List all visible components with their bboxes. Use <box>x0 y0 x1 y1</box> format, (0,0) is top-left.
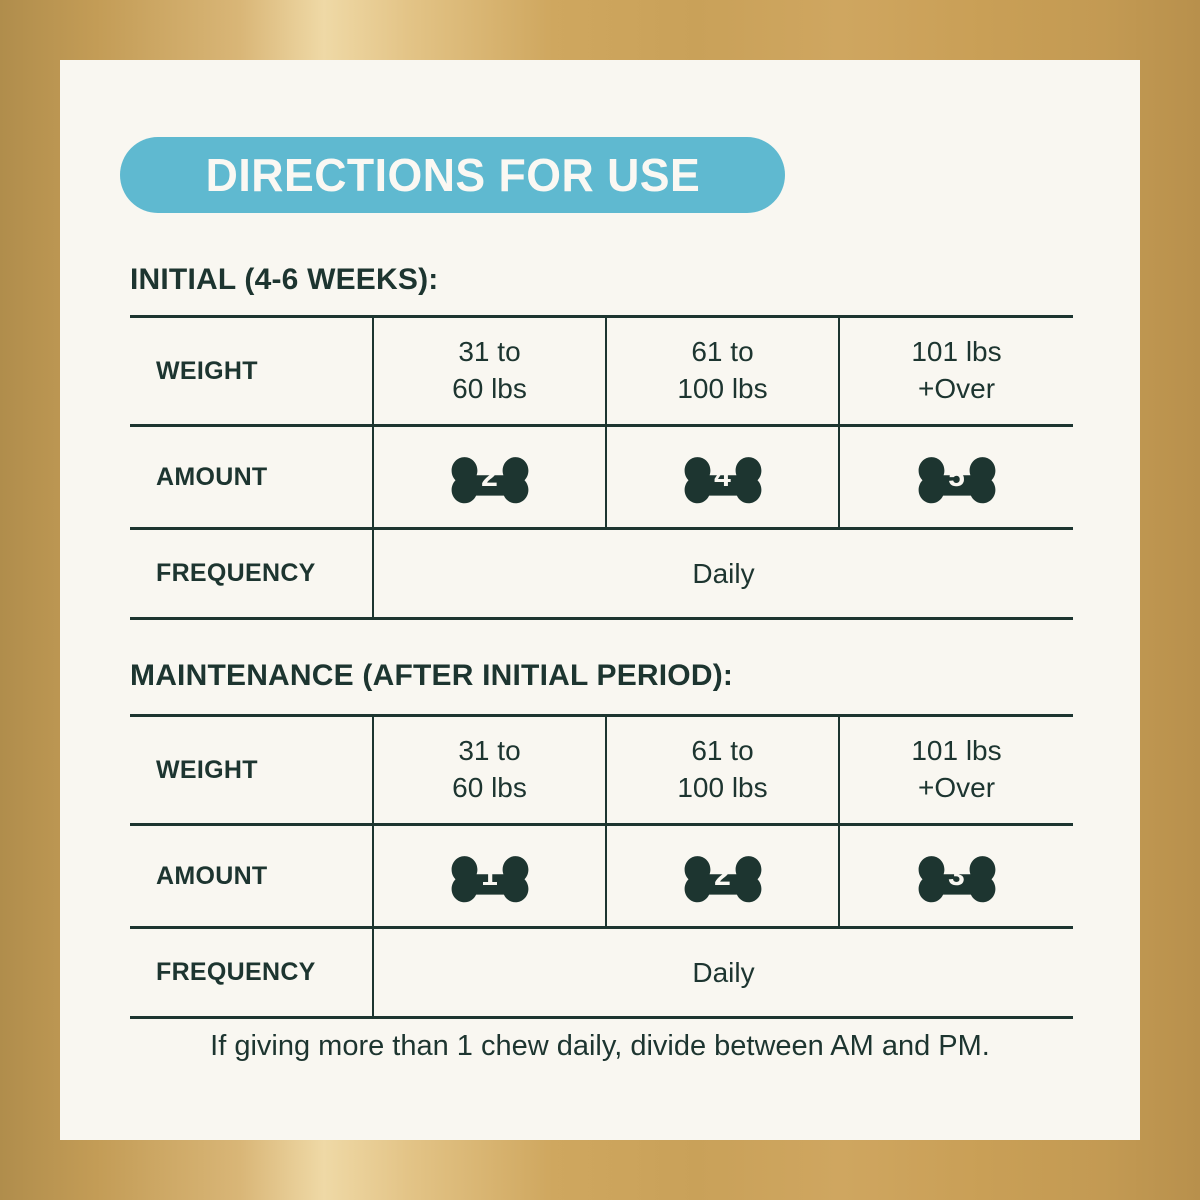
row-label-weight: WEIGHT <box>130 716 373 825</box>
bone-icon: 5 <box>907 446 1007 508</box>
weight-range-cell: 31 to 60 lbs <box>373 317 606 426</box>
frequency-value: Daily <box>373 529 1073 619</box>
weight-range-line1: 61 to <box>691 336 753 367</box>
amount-cell: 2 <box>373 426 606 529</box>
amount-cell: 3 <box>839 825 1073 928</box>
weight-range-line2: +Over <box>918 772 995 803</box>
bone-icon: 3 <box>907 845 1007 907</box>
table-row: WEIGHT 31 to 60 lbs 61 to 100 lbs 101 lb… <box>130 317 1073 426</box>
bone-icon: 1 <box>440 845 540 907</box>
weight-range-cell: 101 lbs +Over <box>839 317 1073 426</box>
frequency-value: Daily <box>373 928 1073 1018</box>
weight-range-line2: 60 lbs <box>452 373 527 404</box>
gold-frame: DIRECTIONS FOR USE INITIAL (4-6 WEEKS): … <box>0 0 1200 1200</box>
bone-amount-value: 3 <box>907 845 1007 907</box>
bone-amount-value: 5 <box>907 446 1007 508</box>
bone-amount-value: 4 <box>673 446 773 508</box>
page-title: DIRECTIONS FOR USE <box>205 152 700 198</box>
row-label-amount: AMOUNT <box>130 426 373 529</box>
bone-icon: 2 <box>440 446 540 508</box>
weight-range-line2: 100 lbs <box>677 772 767 803</box>
row-label-weight: WEIGHT <box>130 317 373 426</box>
weight-range-line1: 31 to <box>458 336 520 367</box>
weight-range-cell: 61 to 100 lbs <box>606 716 839 825</box>
amount-cell: 5 <box>839 426 1073 529</box>
weight-range-line1: 101 lbs <box>911 735 1001 766</box>
weight-range-cell: 61 to 100 lbs <box>606 317 839 426</box>
weight-range-line1: 101 lbs <box>911 336 1001 367</box>
weight-range-line2: +Over <box>918 373 995 404</box>
row-label-amount: AMOUNT <box>130 825 373 928</box>
dosing-table-maintenance: WEIGHT 31 to 60 lbs 61 to 100 lbs 101 lb… <box>130 714 1073 1019</box>
table-row: AMOUNT 1 <box>130 825 1073 928</box>
weight-range-line1: 61 to <box>691 735 753 766</box>
row-label-frequency: FREQUENCY <box>130 529 373 619</box>
bone-icon: 2 <box>673 845 773 907</box>
amount-cell: 1 <box>373 825 606 928</box>
section-heading-maintenance: MAINTENANCE (AFTER INITIAL PERIOD): <box>130 659 733 693</box>
table-row: FREQUENCY Daily <box>130 928 1073 1018</box>
bone-icon: 4 <box>673 446 773 508</box>
weight-range-cell: 101 lbs +Over <box>839 716 1073 825</box>
row-label-frequency: FREQUENCY <box>130 928 373 1018</box>
bone-amount-value: 2 <box>673 845 773 907</box>
amount-cell: 2 <box>606 825 839 928</box>
table-row: AMOUNT 2 <box>130 426 1073 529</box>
weight-range-line2: 60 lbs <box>452 772 527 803</box>
directions-title-pill: DIRECTIONS FOR USE <box>120 137 785 213</box>
dosing-footnote: If giving more than 1 chew daily, divide… <box>60 1030 1140 1063</box>
section-heading-initial: INITIAL (4-6 WEEKS): <box>130 263 438 297</box>
weight-range-line2: 100 lbs <box>677 373 767 404</box>
bone-amount-value: 1 <box>440 845 540 907</box>
weight-range-cell: 31 to 60 lbs <box>373 716 606 825</box>
weight-range-line1: 31 to <box>458 735 520 766</box>
directions-card: DIRECTIONS FOR USE INITIAL (4-6 WEEKS): … <box>60 60 1140 1140</box>
amount-cell: 4 <box>606 426 839 529</box>
dosing-table-initial: WEIGHT 31 to 60 lbs 61 to 100 lbs 101 lb… <box>130 315 1073 620</box>
bone-amount-value: 2 <box>440 446 540 508</box>
table-row: FREQUENCY Daily <box>130 529 1073 619</box>
table-row: WEIGHT 31 to 60 lbs 61 to 100 lbs 101 lb… <box>130 716 1073 825</box>
